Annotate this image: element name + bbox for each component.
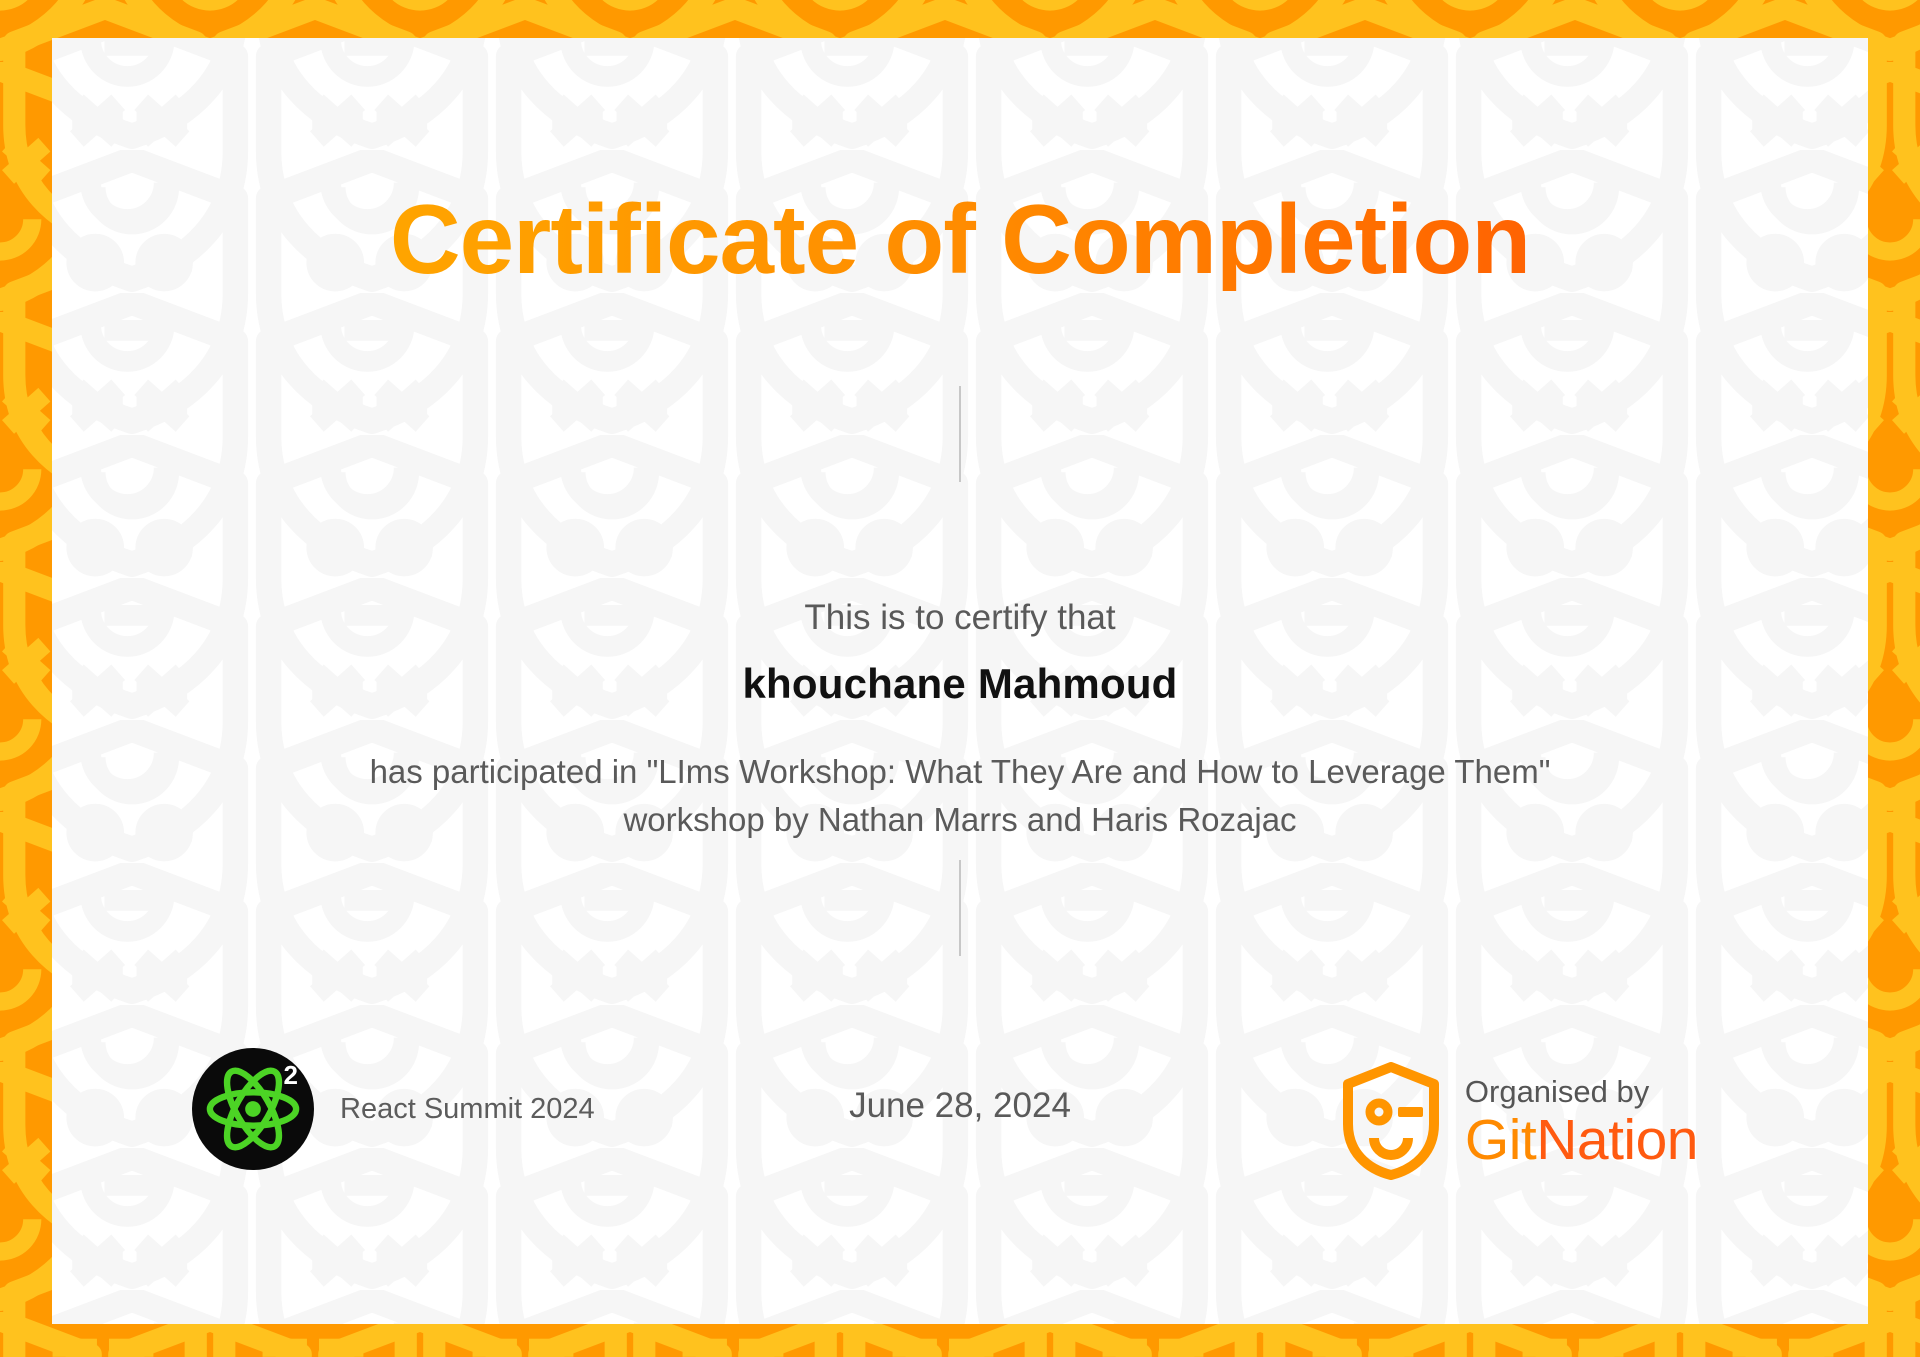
divider-bottom [959,860,961,956]
gitnation-wordmark: GitNation [1465,1108,1698,1172]
recipient-name: khouchane Mahmoud [52,660,1868,708]
page-title: Certificate of Completion [52,188,1868,291]
gitnation-nation: Nation [1536,1108,1698,1172]
divider-top [959,386,961,482]
participation-line-2: workshop by Nathan Marrs and Haris Rozaj… [52,796,1868,844]
organised-by-label: Organised by [1465,1075,1698,1108]
certificate-card: Certificate of Completion This is to cer… [52,38,1868,1324]
participation-line-1: has participated in "LIms Workshop: What… [52,748,1868,796]
gitnation-shield-icon [1341,1062,1441,1185]
participation-text: has participated in "LIms Workshop: What… [52,748,1868,844]
certify-line: This is to certify that [52,598,1868,638]
react-logo-superscript: 2 [284,1062,298,1088]
organiser-text: Organised by GitNation [1465,1075,1698,1172]
certificate-footer: 2 React Summit 2024 June 28, 2024 [52,1038,1868,1238]
gitnation-git: Git [1465,1108,1536,1172]
certificate: Certificate of Completion This is to cer… [0,0,1920,1357]
organiser-block: Organised by GitNation [1341,1062,1698,1185]
